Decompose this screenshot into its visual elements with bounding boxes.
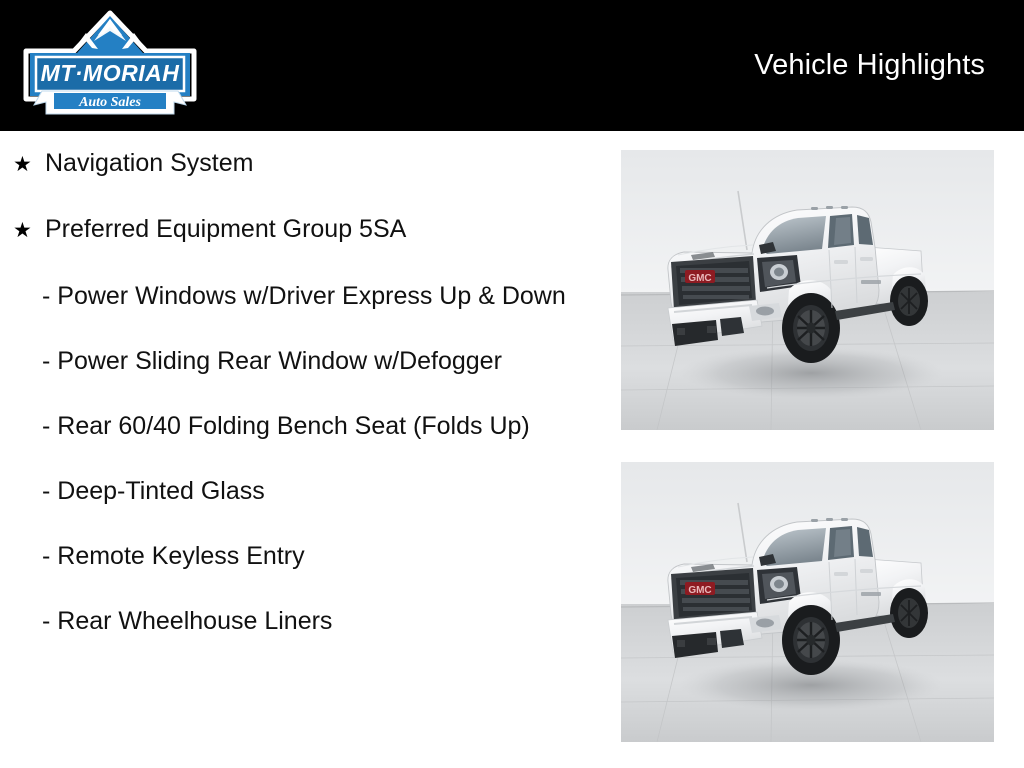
gmc-emblem-text: GMC [688, 273, 711, 284]
page-header: MT·MORIAH Auto Sales Vehicle Highlights [0, 0, 1024, 131]
logo-tagline: Auto Sales [78, 95, 141, 110]
star-bullet-icon: ★ [13, 148, 32, 181]
content-area: ★ Navigation System ★ Preferred Equipmen… [0, 131, 1024, 768]
highlight-label: Navigation System [45, 149, 253, 177]
vehicle-photo-front-three-quarter-2[interactable]: GMC [621, 462, 994, 742]
highlight-item-sub: - Power Windows w/Driver Express Up & Do… [0, 279, 600, 314]
vehicle-highlights-list: ★ Navigation System ★ Preferred Equipmen… [0, 131, 600, 669]
highlight-item-sub: - Remote Keyless Entry [0, 539, 600, 574]
gmc-emblem-text: GMC [688, 585, 711, 596]
vehicle-photo-front-three-quarter-1[interactable]: GMC [621, 150, 994, 430]
mt-moriah-auto-sales-logo[interactable]: MT·MORIAH Auto Sales [14, 7, 206, 122]
page-title: Vehicle Highlights [754, 48, 985, 82]
highlight-item-sub: - Deep-Tinted Glass [0, 474, 600, 509]
highlight-item-main: ★ Navigation System [0, 147, 600, 180]
star-bullet-icon: ★ [13, 214, 32, 247]
highlight-label: Preferred Equipment Group 5SA [45, 215, 406, 243]
highlight-item-sub: - Rear 60/40 Folding Bench Seat (Folds U… [0, 409, 600, 444]
highlight-item-sub: - Rear Wheelhouse Liners [0, 604, 600, 639]
logo-wordmark: MT·MORIAH [41, 60, 180, 86]
highlight-item-sub: - Power Sliding Rear Window w/Defogger [0, 344, 600, 379]
highlight-item-main: ★ Preferred Equipment Group 5SA [0, 213, 600, 246]
